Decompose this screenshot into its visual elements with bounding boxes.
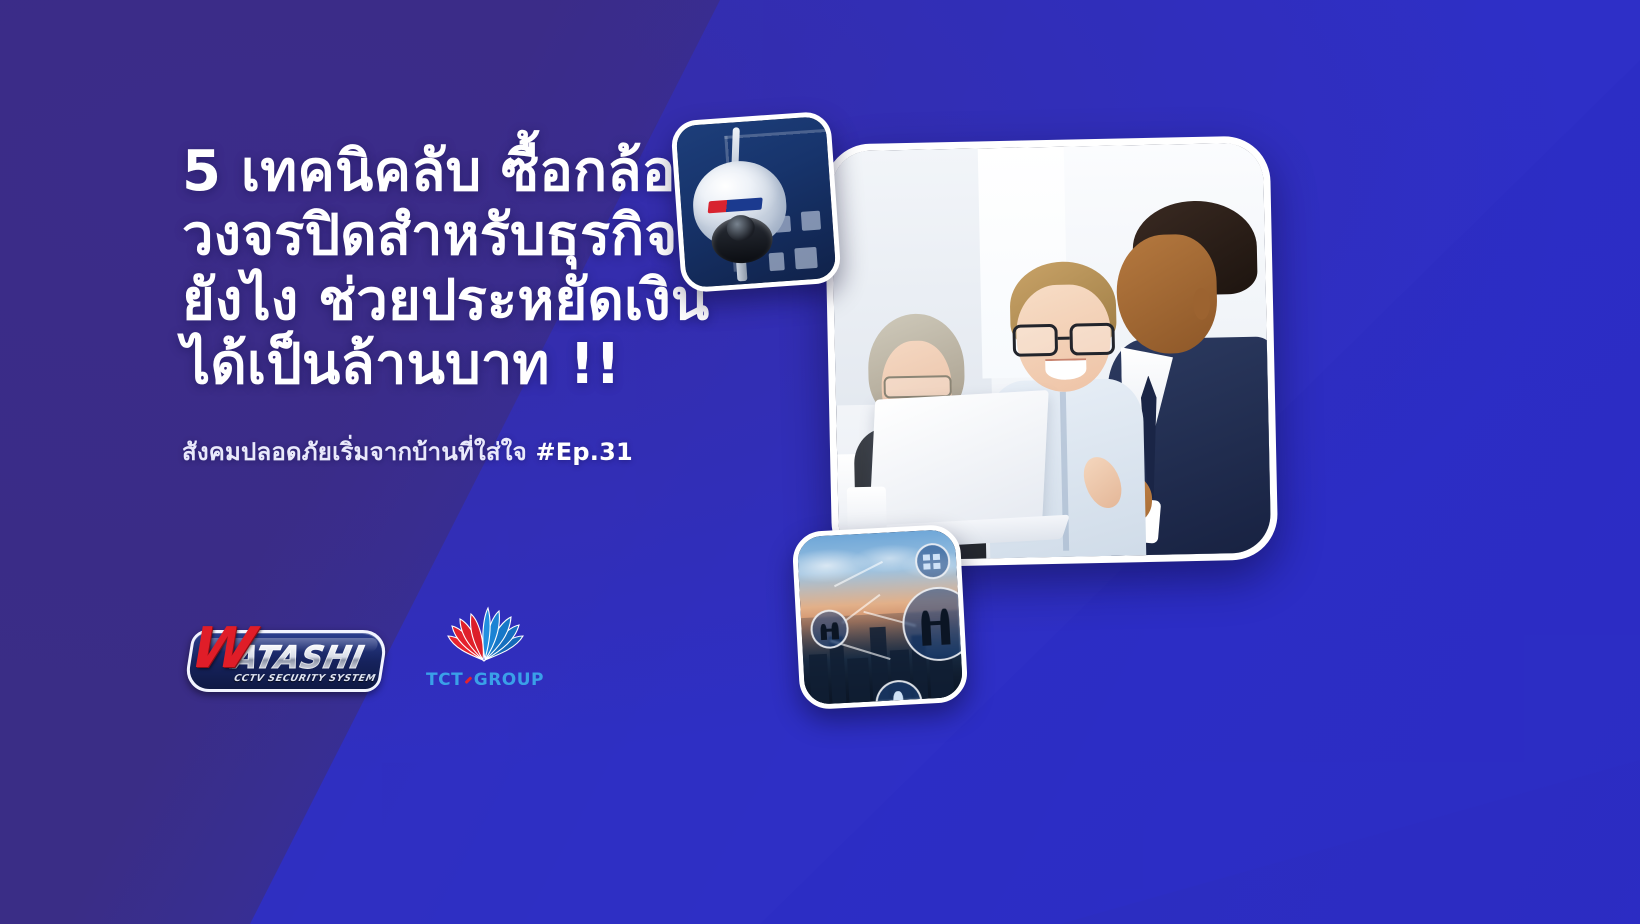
icon-tile bbox=[933, 553, 940, 560]
watashi-initial: W bbox=[186, 621, 260, 677]
woman-glasses-icon bbox=[884, 375, 952, 399]
tct-right-word: GROUP bbox=[474, 670, 544, 690]
tct-group-logo[interactable]: TCT GROUP bbox=[426, 596, 544, 692]
shelf-item bbox=[800, 211, 821, 232]
building bbox=[847, 658, 870, 703]
icon-tile bbox=[933, 563, 940, 570]
tct-left-word: TCT bbox=[426, 670, 463, 690]
handshake-bar bbox=[929, 621, 942, 626]
laptop bbox=[868, 390, 1048, 531]
handshake-bar bbox=[826, 629, 834, 632]
man-right-ear bbox=[1192, 288, 1210, 321]
subtitle: สังคมปลอดภัยเริ่มจากบ้านที่ใส่ใจ #Ep.31 bbox=[182, 432, 742, 471]
person-silhouette bbox=[920, 610, 931, 645]
episode-tag: #Ep.31 bbox=[536, 438, 633, 466]
office-scene bbox=[831, 143, 1271, 562]
headline-line-1: 5 เทคนิคลับ ซื้อกล้อง bbox=[182, 140, 742, 204]
city-scene bbox=[797, 529, 964, 705]
promo-banner: 5 เทคนิคลับ ซื้อกล้อง วงจรปิดสำหรับธุรกิ… bbox=[0, 0, 1640, 924]
subtitle-text: สังคมปลอดภัยเริ่มจากบ้านที่ใส่ใจ bbox=[182, 438, 536, 466]
person-silhouette bbox=[939, 608, 950, 645]
icon-tile bbox=[923, 554, 930, 561]
tct-fan-icon bbox=[426, 596, 544, 668]
logo-row: W ATASHI CCTV SECURITY SYSTEM bbox=[188, 596, 544, 692]
watashi-logo[interactable]: W ATASHI CCTV SECURITY SYSTEM bbox=[188, 630, 384, 692]
building bbox=[930, 655, 954, 698]
building bbox=[809, 653, 829, 704]
red-diamond-icon bbox=[465, 676, 472, 683]
page-title: 5 เทคนิคลับ ซื้อกล้อง วงจรปิดสำหรับธุรกิ… bbox=[182, 140, 742, 398]
headline-block: 5 เทคนิคลับ ซื้อกล้อง วงจรปิดสำหรับธุรกิ… bbox=[182, 140, 742, 471]
headline-line-4: ได้เป็นล้านบาท !! bbox=[182, 333, 742, 397]
cctv-camera-photo bbox=[670, 111, 842, 294]
city-network-photo bbox=[791, 524, 968, 711]
dome-camera-icon bbox=[690, 158, 790, 265]
icon-tile bbox=[923, 563, 930, 570]
watashi-tagline: CCTV SECURITY SYSTEM bbox=[233, 674, 377, 684]
man-center-glasses-icon bbox=[1012, 322, 1115, 357]
shelf-item bbox=[794, 246, 818, 269]
meeting-photo bbox=[824, 135, 1279, 568]
tct-wordmark: TCT GROUP bbox=[426, 670, 544, 690]
headline-line-3: ยังไง ช่วยประหยัดเงิน bbox=[182, 269, 742, 333]
headline-line-2: วงจรปิดสำหรับธุรกิจ bbox=[182, 204, 742, 268]
